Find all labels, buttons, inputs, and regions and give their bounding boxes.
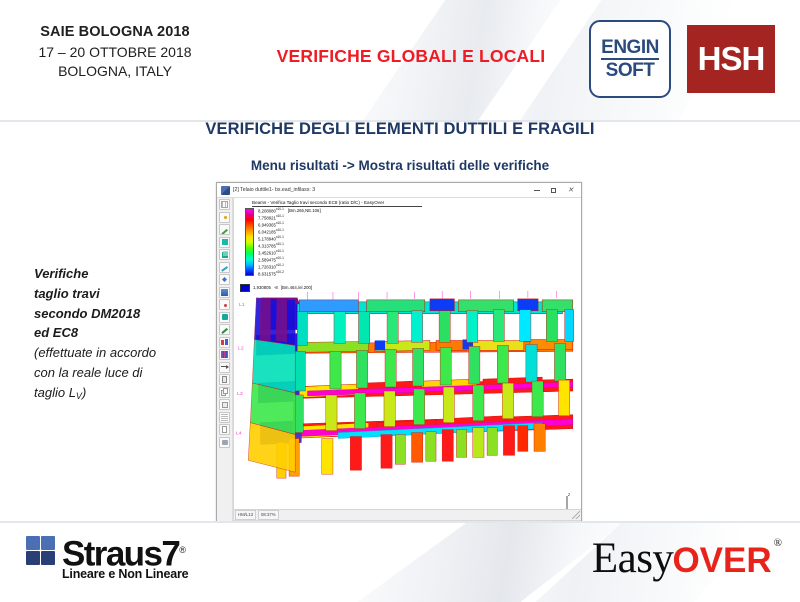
contour-icon[interactable]: [219, 287, 230, 298]
pen-icon[interactable]: [219, 224, 230, 235]
minimize-button[interactable]: [528, 184, 545, 197]
hsh-logo: HSH: [687, 25, 775, 93]
legend-value: 8,631575: [258, 271, 276, 276]
window-statusbar: HM/L13 08:37%: [234, 509, 581, 520]
caption-line-4: ed EC8: [34, 323, 214, 343]
legend-exponent: -1: [281, 214, 284, 218]
hsh-logo-label: HSH: [698, 40, 765, 78]
window-resize-grip[interactable]: [572, 511, 580, 519]
settings-icon[interactable]: [219, 412, 230, 423]
svg-text:z: z: [568, 492, 571, 497]
caption-lv-pre: taglio L: [34, 385, 76, 400]
enginsoft-logo-line2: SOFT: [606, 61, 655, 80]
legend-row: 6,949365x10-1: [258, 221, 284, 227]
legend-exponent: -2: [281, 270, 284, 274]
legend-row: 3,452610x10-1: [258, 249, 284, 255]
legend-title: Beams - Verifica Taglio travi secondo EC…: [252, 200, 422, 207]
legend-value: 8,208080: [258, 208, 276, 213]
legend-colorbar: [245, 208, 254, 276]
legend-value: 5,178940: [258, 236, 276, 241]
easyover-easy-text: Easy: [592, 537, 674, 580]
marker-icon[interactable]: [219, 324, 230, 335]
easyover-logo: Easy OVER ®: [592, 537, 782, 580]
pick-icon[interactable]: [219, 262, 230, 273]
paint-icon[interactable]: [219, 274, 230, 285]
model-level-labels: L1 L2 L3 L4: [236, 302, 245, 437]
camera-icon[interactable]: [219, 437, 230, 448]
svg-text:L2: L2: [238, 345, 244, 351]
application-window: [2] Telaio duttile1- bs.ead_infilass: 3 …: [216, 182, 582, 522]
legend-value: 4,313785: [258, 243, 276, 248]
node-icon[interactable]: [219, 212, 230, 223]
vertical-toolbar[interactable]: [217, 198, 233, 521]
plate-icon[interactable]: [219, 237, 230, 248]
window-title: [2] Telaio duttile1- bs.ead_infilass: 3: [233, 187, 528, 193]
legend-row: 7,758921x10-1: [258, 214, 284, 220]
legend-value: 3,452610: [258, 250, 276, 255]
caption-line-3: secondo DM2018: [34, 304, 214, 324]
legend-row: 8,631575x10-2: [258, 270, 284, 276]
page-title: VERIFICHE DEGLI ELEMENTI DUTTILI E FRAGI…: [180, 120, 620, 139]
legend-row: 4,313785x10-1: [258, 242, 284, 248]
beam-icon[interactable]: [219, 374, 230, 385]
easyover-over-text: OVER: [672, 543, 771, 578]
window-controls: ✕: [528, 184, 579, 197]
legend-value: 7,758921: [258, 215, 276, 220]
report-icon[interactable]: [219, 424, 230, 435]
diagram-icon[interactable]: [219, 337, 230, 348]
deck-title: VERIFICHE GLOBALI E LOCALI: [236, 46, 586, 67]
solid-icon[interactable]: [219, 312, 230, 323]
event-info-block: SAIE BOLOGNA 2018 17 – 20 OTTOBRE 2018 B…: [0, 22, 230, 82]
results-legend: Beams - Verifica Taglio travi secondo EC…: [238, 200, 428, 282]
copy-icon[interactable]: [219, 387, 230, 398]
legend-row: 5,178940x10-1: [258, 235, 284, 241]
model-load-arrows: [307, 291, 556, 300]
application-icon: [221, 186, 230, 195]
window-body: Beams - Verifica Taglio travi secondo EC…: [217, 198, 581, 521]
legend-exponent: -1: [281, 235, 284, 239]
close-button[interactable]: ✕: [562, 184, 579, 197]
status-cell-1: HM/L13: [235, 510, 256, 520]
event-city: BOLOGNA, ITALY: [0, 62, 230, 82]
legend-value: 2,589475: [258, 257, 276, 262]
brick-icon[interactable]: [219, 249, 230, 260]
model-left-wall: [248, 298, 295, 472]
legend-value: 6,042185: [258, 229, 276, 234]
structural-frame-model[interactable]: L1 L2 L3 L4: [236, 284, 581, 492]
caption-line-1: Verifiche: [34, 264, 214, 284]
stack-icon[interactable]: [219, 399, 230, 410]
straus7-tagline: Lineare e Non Lineare: [62, 567, 188, 581]
legend-top-note: [Bm.266,NE.106]: [288, 208, 321, 213]
straus7-registered-mark: ®: [179, 545, 184, 555]
legend-body: 8,208080x10-1[Bm.266,NE.106] 7,758921x10…: [238, 208, 428, 282]
event-title: SAIE BOLOGNA 2018: [0, 22, 230, 43]
enginsoft-logo-line1: ENGIN: [601, 38, 659, 57]
legend-exponent: -1: [281, 263, 284, 267]
window-titlebar[interactable]: [2] Telaio duttile1- bs.ead_infilass: 3 …: [217, 183, 581, 198]
legend-row: 1,726310x10-1: [258, 263, 284, 269]
legend-value: 1,726310: [258, 264, 276, 269]
svg-text:L3: L3: [237, 391, 243, 397]
legend-exponent: -1: [281, 228, 284, 232]
caption-line-6: con la reale luce di: [34, 363, 214, 383]
straus7-name: Straus7®: [62, 533, 188, 572]
page-subtitle: Menu risultati -> Mostra risultati delle…: [180, 158, 620, 173]
enginsoft-logo: ENGIN SOFT: [589, 20, 671, 98]
legend-exponent: -1: [281, 242, 284, 246]
easyover-registered-mark: ®: [774, 537, 782, 549]
caption-line-2: taglio travi: [34, 284, 214, 304]
svg-text:L4: L4: [236, 431, 242, 437]
grid-icon[interactable]: [219, 199, 230, 210]
caption-block: Verifiche taglio travi secondo DM2018 ed…: [34, 264, 214, 402]
caption-lv-post: ): [82, 385, 86, 400]
caption-line-5: (effettuate in accordo: [34, 343, 214, 363]
event-dates: 17 – 20 OTTOBRE 2018: [0, 43, 230, 63]
footer-bar: Straus7® Lineare e Non Lineare Easy OVER…: [0, 521, 800, 602]
legend-value: 6,949365: [258, 222, 276, 227]
straus7-logo: Straus7® Lineare e Non Lineare: [26, 533, 188, 581]
status-cell-2: 08:37%: [258, 510, 279, 520]
legend-exponent: -1: [281, 256, 284, 260]
legend-row: 8,208080x10-1[Bm.266,NE.106]: [258, 207, 321, 213]
straus7-wordmark: Straus7® Lineare e Non Lineare: [62, 533, 188, 581]
model-canvas[interactable]: Beams - Verifica Taglio travi secondo EC…: [233, 198, 581, 521]
legend-row: 6,042185x10-1: [258, 228, 284, 234]
caption-lv-subscript: V: [76, 391, 82, 401]
straus7-grid-icon: [26, 536, 60, 570]
vector-icon[interactable]: [219, 362, 230, 373]
legend-exponent: -1: [281, 207, 284, 211]
legend-exponent: -1: [281, 249, 284, 253]
maximize-button[interactable]: [545, 184, 562, 197]
point-load-icon[interactable]: [219, 299, 230, 310]
caption-line-7: taglio LV): [34, 383, 214, 403]
table-icon[interactable]: [219, 349, 230, 360]
legend-exponent: -1: [281, 221, 284, 225]
legend-row: 2,589475x10-1: [258, 256, 284, 262]
svg-text:L1: L1: [239, 302, 245, 308]
